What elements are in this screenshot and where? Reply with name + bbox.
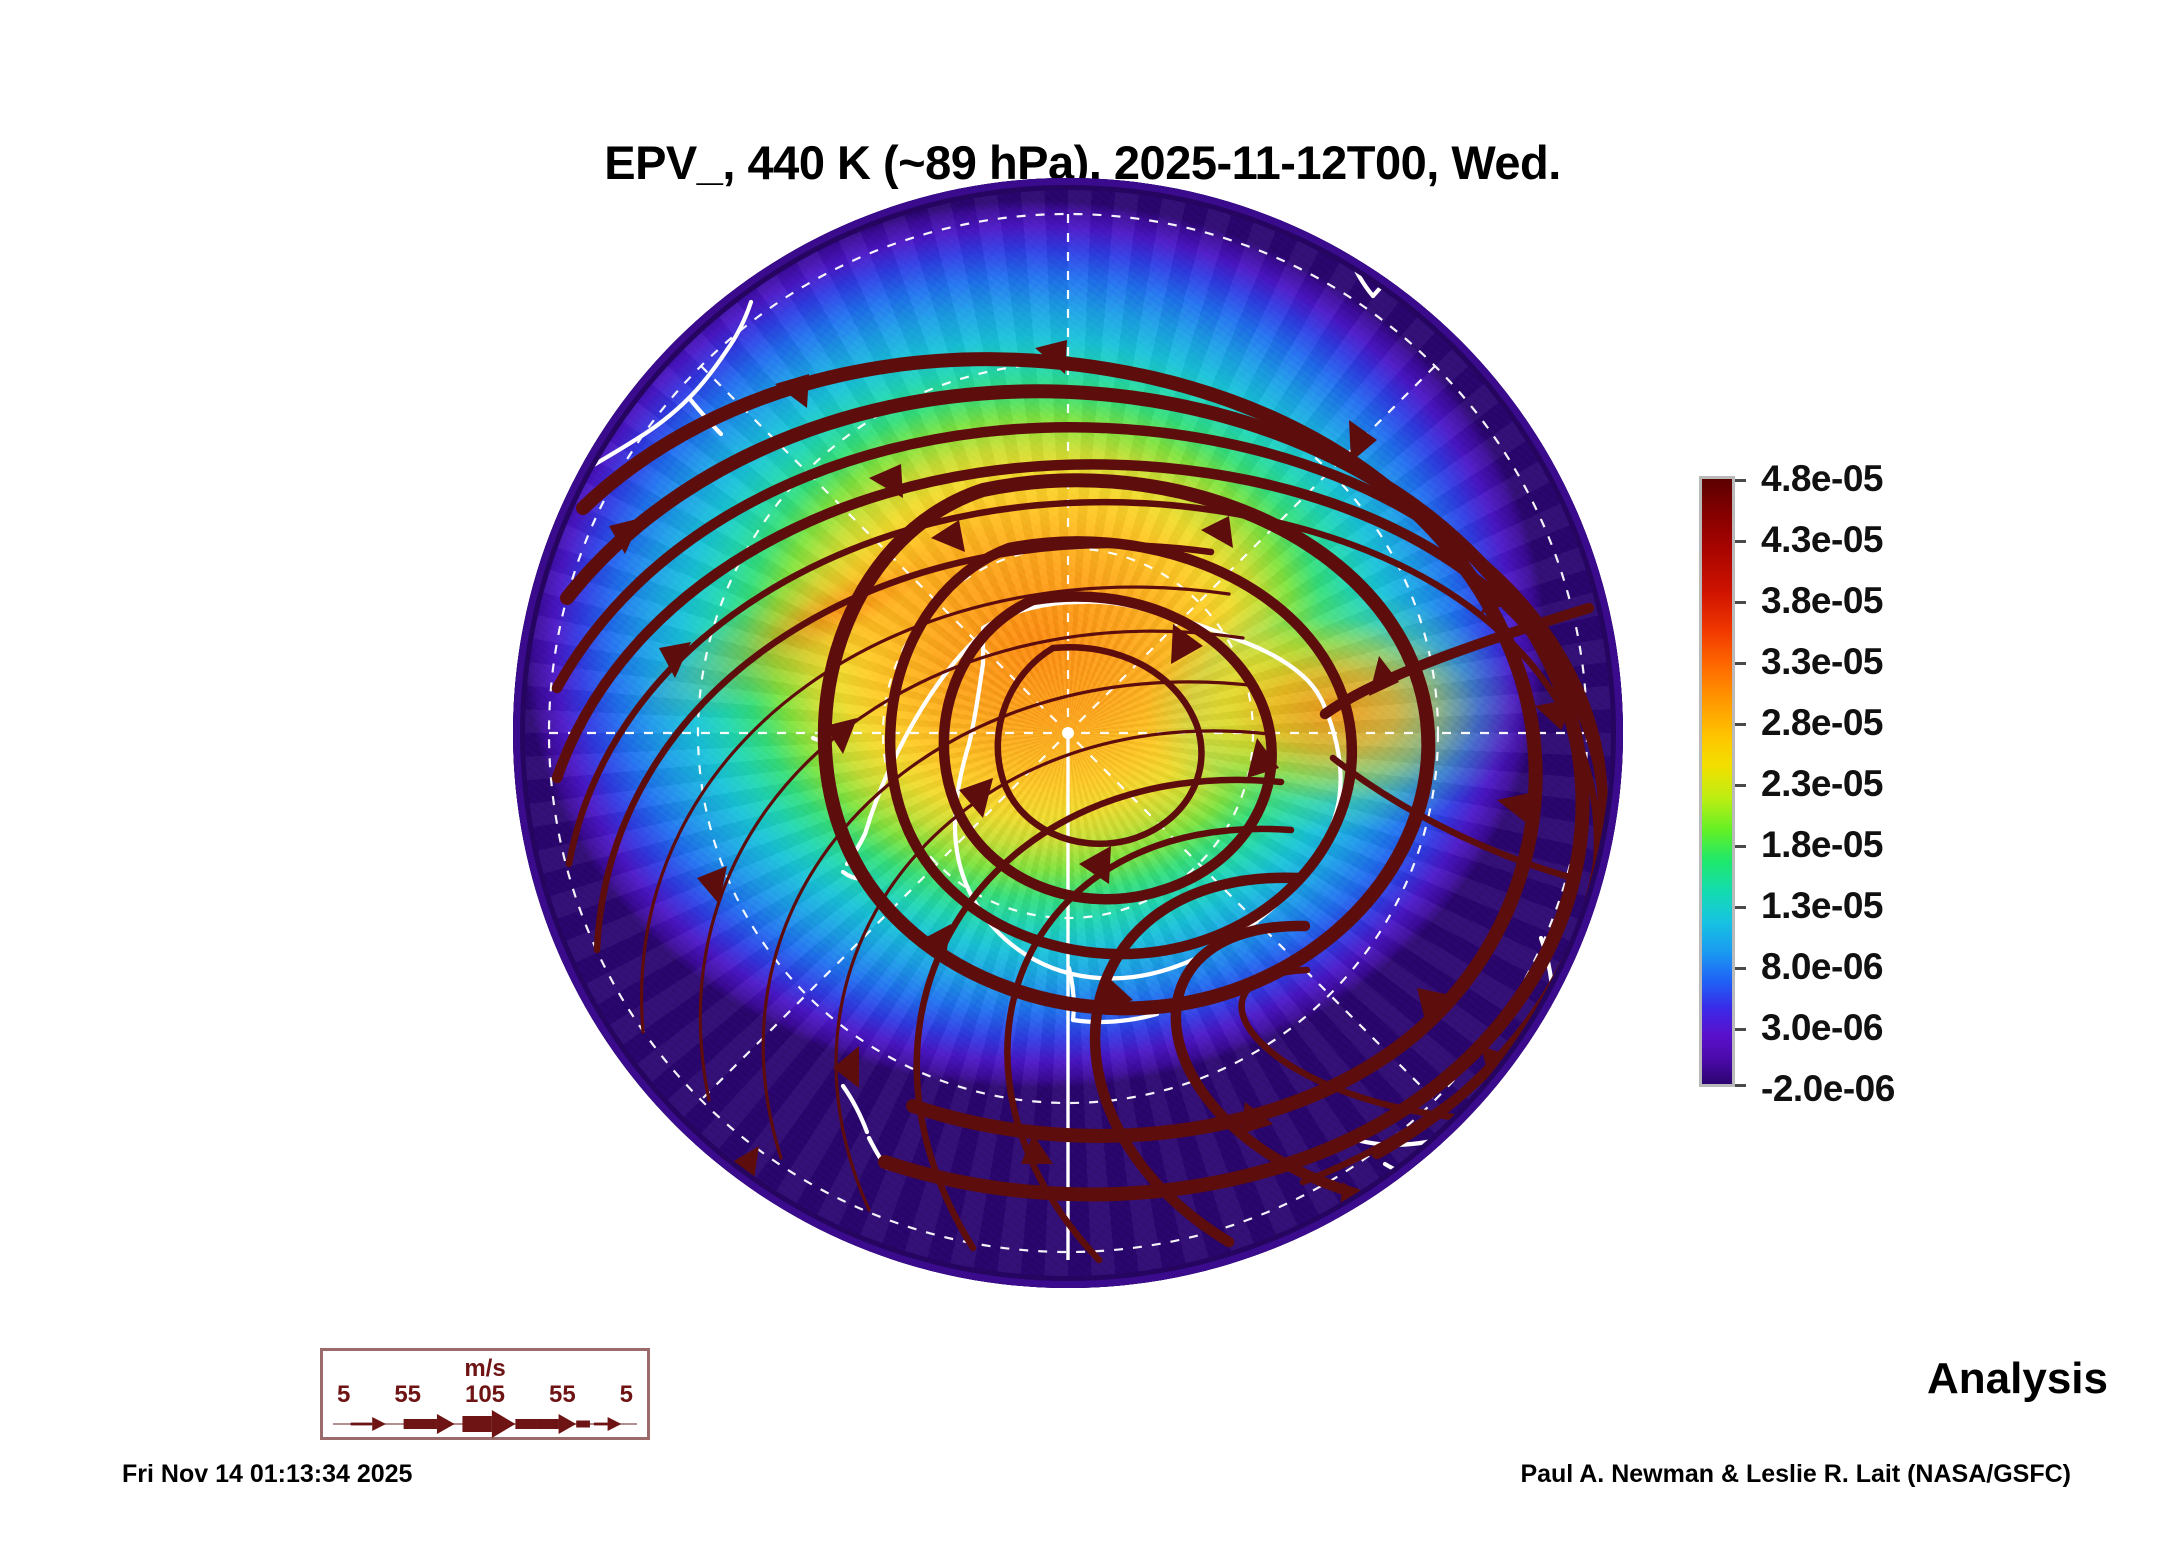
wind-legend-values: 5 55 105 55 5 bbox=[337, 1381, 633, 1409]
colorbar-tick bbox=[1735, 967, 1746, 970]
wind-legend-arrows bbox=[333, 1409, 637, 1439]
colorbar-label: 1.8e-05 bbox=[1761, 824, 1883, 866]
colorbar: 4.8e-05 4.3e-05 3.8e-05 3.3e-05 2.8e-05 … bbox=[1699, 476, 2119, 1091]
colorbar-label: 3.8e-05 bbox=[1761, 580, 1883, 622]
wind-legend-unit: m/s bbox=[323, 1355, 647, 1383]
colorbar-tick bbox=[1735, 1028, 1746, 1031]
colorbar-tick bbox=[1735, 662, 1746, 665]
wind-streamlines bbox=[557, 359, 1603, 1260]
globe-disc bbox=[513, 178, 1623, 1288]
wind-legend-value: 5 bbox=[337, 1381, 350, 1409]
colorbar-tick bbox=[1735, 784, 1746, 787]
colorbar-tick bbox=[1735, 601, 1746, 604]
wind-legend-value: 55 bbox=[394, 1381, 421, 1409]
wind-legend-value: 55 bbox=[549, 1381, 576, 1409]
colorbar-tick bbox=[1735, 723, 1746, 726]
author-credit: Paul A. Newman & Leslie R. Lait (NASA/GS… bbox=[1520, 1460, 2071, 1489]
south-pole-marker bbox=[1062, 727, 1074, 739]
colorbar-frame bbox=[1699, 476, 1735, 1087]
colorbar-tick bbox=[1735, 540, 1746, 543]
colorbar-gradient bbox=[1702, 479, 1732, 1084]
colorbar-tick bbox=[1735, 845, 1746, 848]
map-overlays bbox=[513, 178, 1623, 1288]
wind-speed-legend: m/s 5 55 105 55 5 bbox=[320, 1348, 650, 1440]
colorbar-label: 2.3e-05 bbox=[1761, 763, 1883, 805]
colorbar-tick bbox=[1735, 906, 1746, 909]
colorbar-label: 3.3e-05 bbox=[1761, 641, 1883, 683]
wind-legend-value: 5 bbox=[620, 1381, 633, 1409]
colorbar-label: 8.0e-06 bbox=[1761, 946, 1883, 988]
colorbar-tick bbox=[1735, 1084, 1746, 1087]
generation-timestamp: Fri Nov 14 01:13:34 2025 bbox=[122, 1460, 412, 1489]
colorbar-label: 1.3e-05 bbox=[1761, 885, 1883, 927]
colorbar-label: 3.0e-06 bbox=[1761, 1007, 1883, 1049]
colorbar-tick bbox=[1735, 479, 1746, 482]
colorbar-label: 4.8e-05 bbox=[1761, 458, 1883, 500]
analysis-label: Analysis bbox=[1927, 1354, 2108, 1404]
colorbar-label: 2.8e-05 bbox=[1761, 702, 1883, 744]
colorbar-label: 4.3e-05 bbox=[1761, 519, 1883, 561]
wind-legend-value: 105 bbox=[465, 1381, 505, 1409]
colorbar-label: -2.0e-06 bbox=[1761, 1068, 1895, 1110]
polar-map bbox=[513, 178, 1623, 1288]
